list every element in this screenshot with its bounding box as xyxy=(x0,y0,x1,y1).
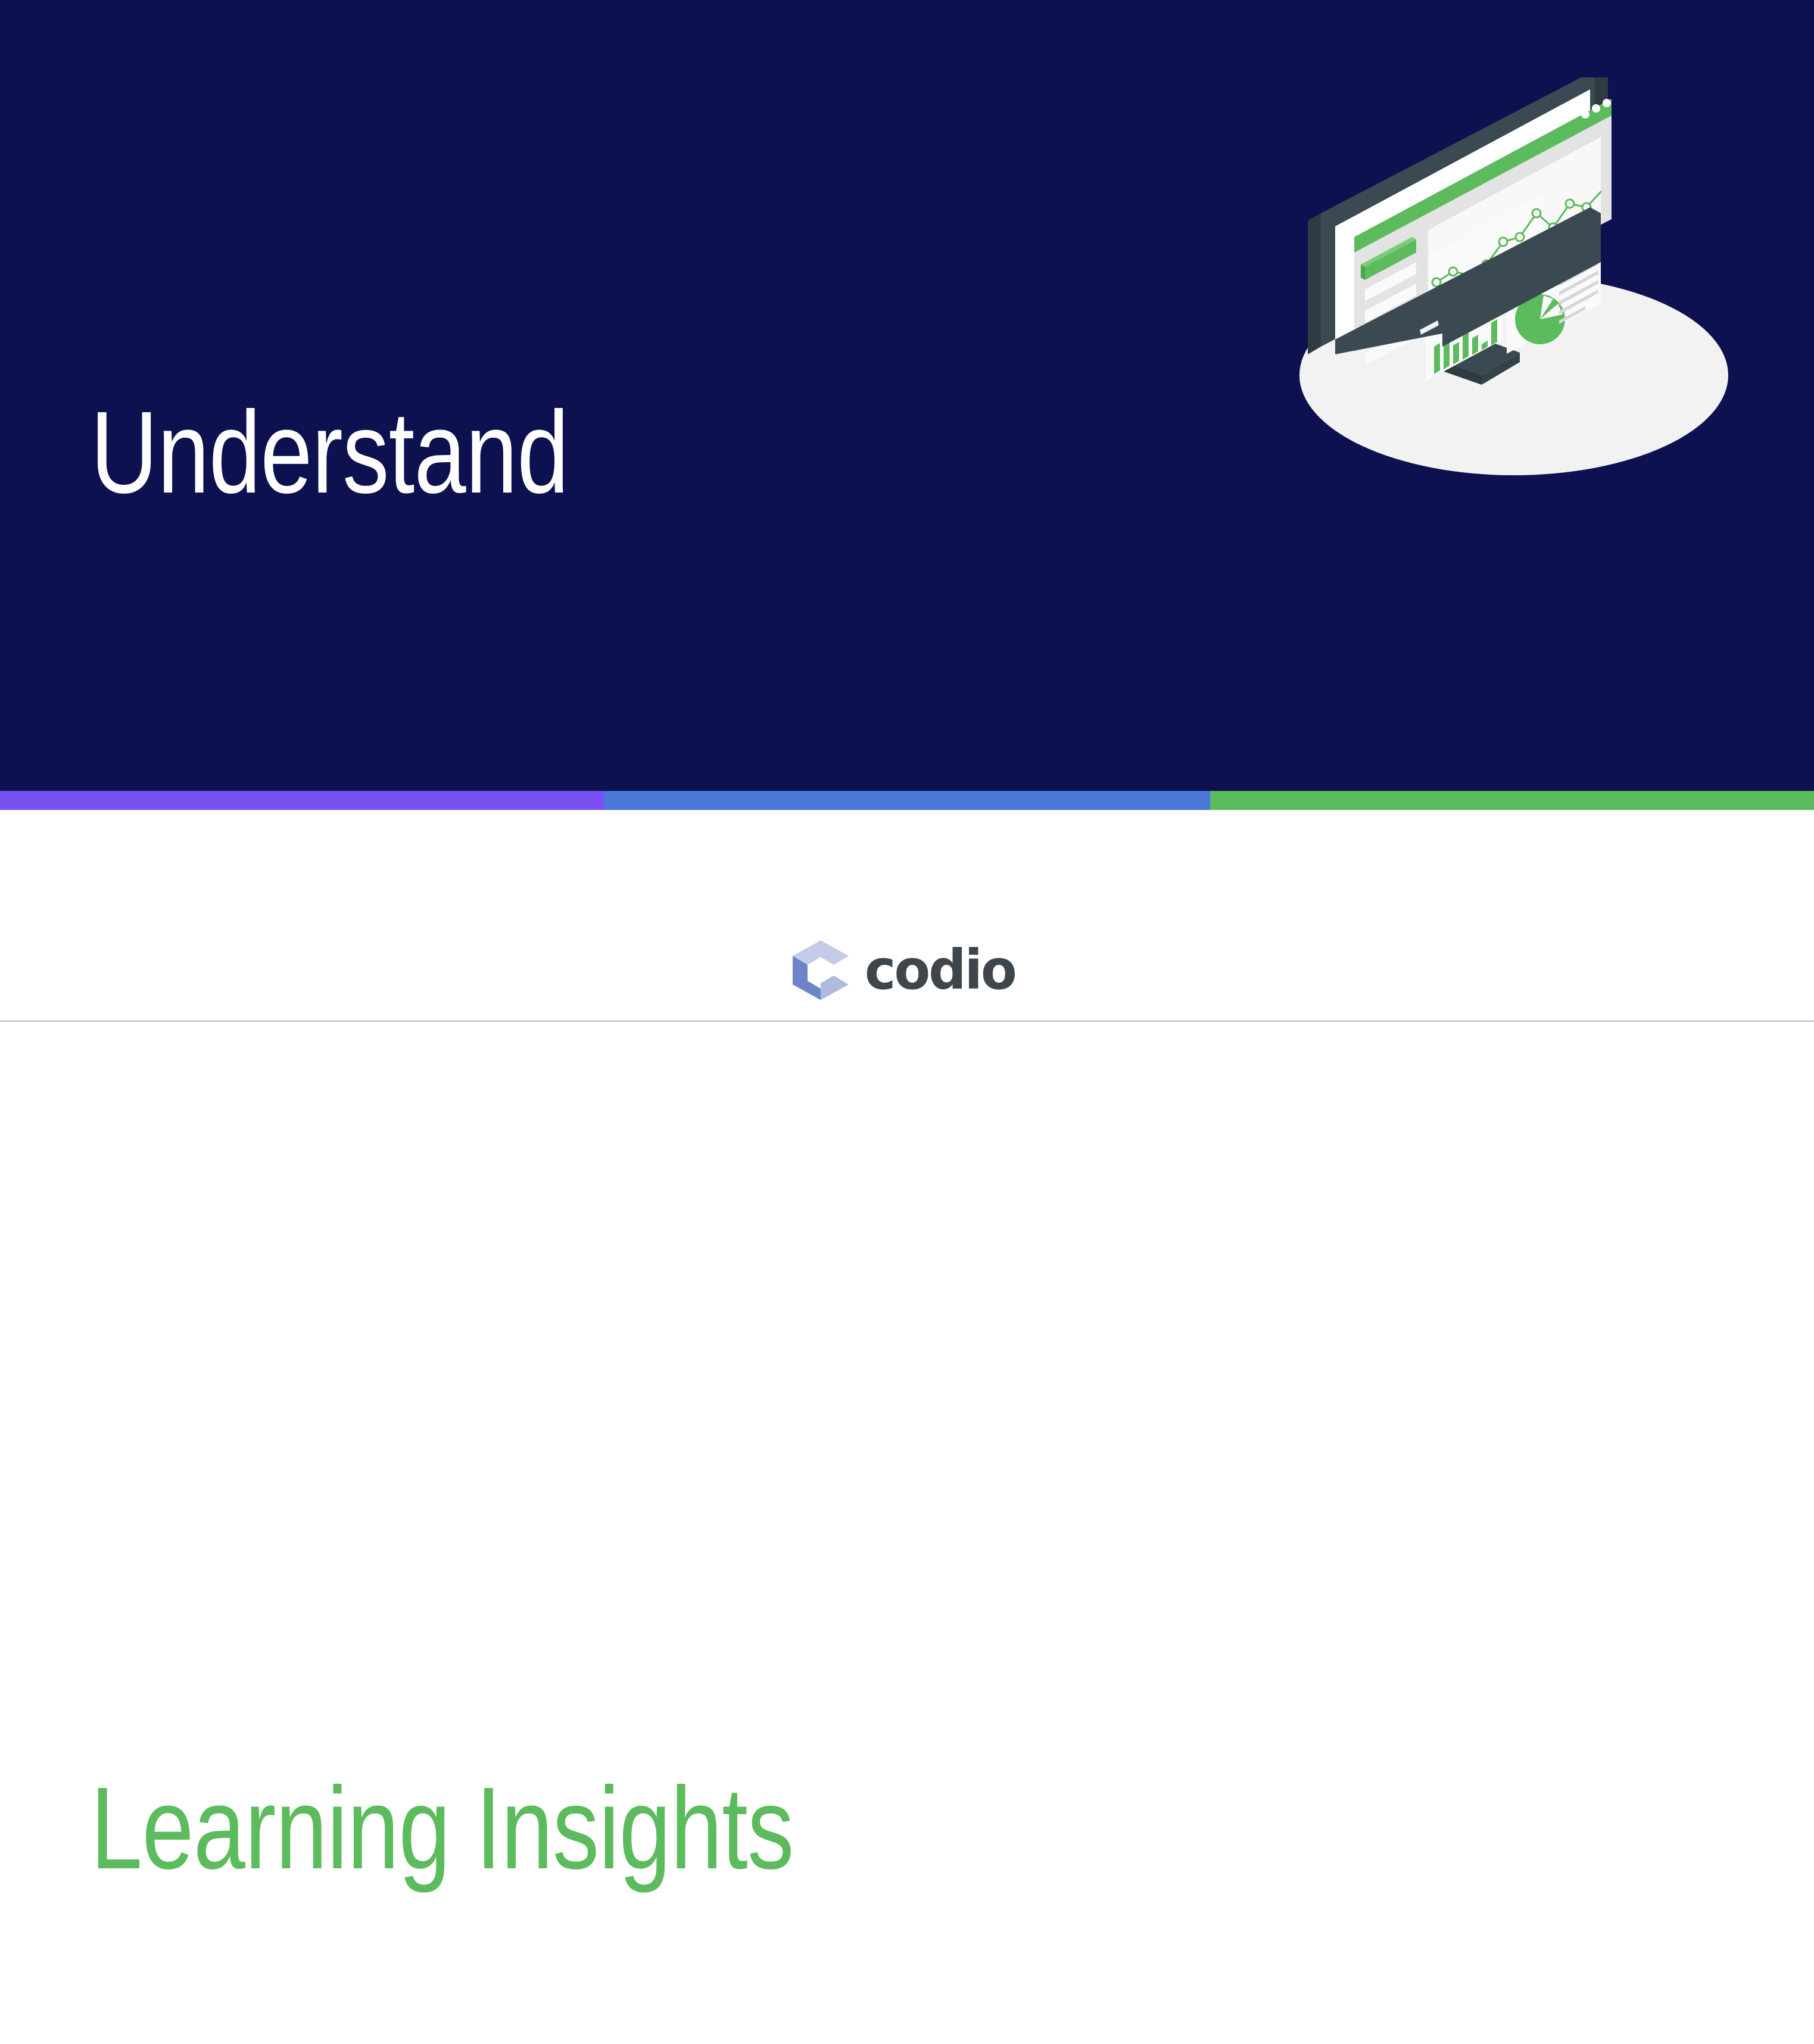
slide-root: Understand Student Performance with Lear… xyxy=(0,0,1814,1022)
codio-wordmark: codio xyxy=(865,943,1015,998)
headline-line-4-accent: Learning Insights xyxy=(91,1752,948,1905)
analytics-monitor-illustration xyxy=(1264,77,1740,518)
hero-section: Understand Student Performance with Lear… xyxy=(0,0,1814,791)
footer-section: codio xyxy=(0,810,1814,1022)
accent-bar-green xyxy=(1210,791,1814,810)
accent-bar-purple xyxy=(0,791,604,810)
codio-logo-mark xyxy=(792,939,849,1001)
codio-logo: codio xyxy=(792,939,1021,1001)
headline-line-3: Performance with xyxy=(91,1294,948,1447)
headline-line-1: Understand xyxy=(91,376,948,529)
accent-color-bar xyxy=(0,791,1814,810)
accent-bar-blue xyxy=(604,791,1210,810)
titlebar-dot-1 xyxy=(1581,110,1589,119)
page-title: Understand Student Performance with Lear… xyxy=(91,70,948,2044)
titlebar-dot-2 xyxy=(1592,104,1600,113)
logo-face-lower xyxy=(821,976,849,1000)
titlebar-dot-3 xyxy=(1603,99,1611,107)
